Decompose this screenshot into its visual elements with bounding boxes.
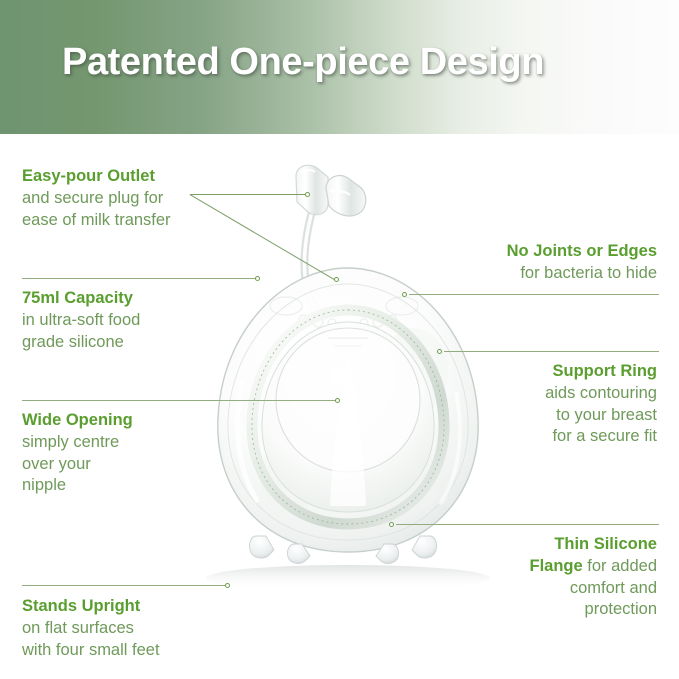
- callout-easy-pour-outlet: Easy-pour Outlet and secure plug for eas…: [22, 166, 171, 231]
- callout-thin-silicone-flange: Thin Silicone Flange for added comfort a…: [530, 534, 658, 621]
- callout-title-support-ring: Support Ring: [545, 361, 657, 383]
- leader-dot-no-joints-or-edges: [402, 292, 407, 297]
- callout-title-75ml-capacity: 75ml Capacity: [22, 288, 140, 310]
- callout-body-no-joints-or-edges-line-1: for bacteria to hide: [507, 263, 657, 285]
- callout-stands-upright: Stands Upright on flat surfaces with fou…: [22, 596, 160, 661]
- callout-title-thin-silicone-flange: Thin Silicone: [530, 534, 658, 556]
- header-banner: Patented One-piece Design: [0, 0, 679, 134]
- leader-line-wide-opening: [22, 400, 337, 401]
- leader-dot-75ml-capacity: [255, 276, 260, 281]
- callout-body-thin-silicone-flange-line-1: comfort and: [530, 578, 658, 600]
- callout-body-wide-opening-line-1: simply centre: [22, 432, 133, 454]
- infographic-page: Patented One-piece Design: [0, 0, 679, 679]
- leader-dot-stands-upright: [225, 583, 230, 588]
- callout-title-flange-word: Flange: [530, 557, 583, 575]
- leader-dot-wide-opening: [335, 398, 340, 403]
- product-illustration: [178, 160, 518, 600]
- callout-body-75ml-capacity-line-1: in ultra-soft food: [22, 310, 140, 332]
- callout-body-support-ring-line-3: for a secure fit: [545, 426, 657, 448]
- callout-body-easy-pour-outlet-line-1: and secure plug for: [22, 188, 171, 210]
- callout-body-thin-silicone-flange-inline: for added: [583, 557, 657, 575]
- callout-title-easy-pour-outlet: Easy-pour Outlet: [22, 166, 171, 188]
- callout-body-stands-upright-line-1: on flat surfaces: [22, 618, 160, 640]
- foot-left-front: [249, 536, 274, 558]
- leader-dot-easy-pour-outlet-secondary: [334, 277, 339, 282]
- leader-dot-thin-silicone-flange: [389, 522, 394, 527]
- callout-body-wide-opening-line-3: nipple: [22, 475, 133, 497]
- callout-title-line-2-thin-silicone-flange: Flange for added: [530, 556, 658, 578]
- spout-plug-nozzle: [326, 176, 366, 216]
- leader-line-support-ring: [444, 351, 659, 352]
- callout-body-support-ring-line-1: aids contouring: [545, 383, 657, 405]
- leader-line-thin-silicone-flange: [396, 524, 659, 525]
- callout-body-easy-pour-outlet-line-2: ease of milk transfer: [22, 210, 171, 232]
- page-title: Patented One-piece Design: [62, 41, 544, 84]
- callout-no-joints-or-edges: No Joints or Edges for bacteria to hide: [507, 241, 657, 285]
- leader-dot-support-ring: [437, 349, 442, 354]
- spout-plug-tab: [296, 165, 328, 215]
- callout-title-no-joints-or-edges: No Joints or Edges: [507, 241, 657, 263]
- leader-line-75ml-capacity: [22, 278, 257, 279]
- product-image: [178, 160, 518, 600]
- leader-line-no-joints-or-edges: [409, 294, 659, 295]
- leader-dot-easy-pour-outlet: [305, 192, 310, 197]
- callout-body-wide-opening-line-2: over your: [22, 454, 133, 476]
- callout-support-ring: Support Ring aids contouring to your bre…: [545, 361, 657, 448]
- leader-line-easy-pour-outlet: [190, 194, 307, 195]
- ground-shadow: [206, 565, 490, 591]
- callout-body-75ml-capacity-line-2: grade silicone: [22, 332, 140, 354]
- callout-wide-opening: Wide Opening simply centre over your nip…: [22, 410, 133, 497]
- callout-body-support-ring-line-2: to your breast: [545, 405, 657, 427]
- callout-body-stands-upright-line-2: with four small feet: [22, 640, 160, 662]
- callout-75ml-capacity: 75ml Capacity in ultra-soft food grade s…: [22, 288, 140, 353]
- callout-title-stands-upright: Stands Upright: [22, 596, 160, 618]
- foot-right-front: [412, 536, 437, 558]
- callout-title-wide-opening: Wide Opening: [22, 410, 133, 432]
- leader-line-stands-upright: [22, 585, 227, 586]
- callout-body-thin-silicone-flange-line-2: protection: [530, 599, 658, 621]
